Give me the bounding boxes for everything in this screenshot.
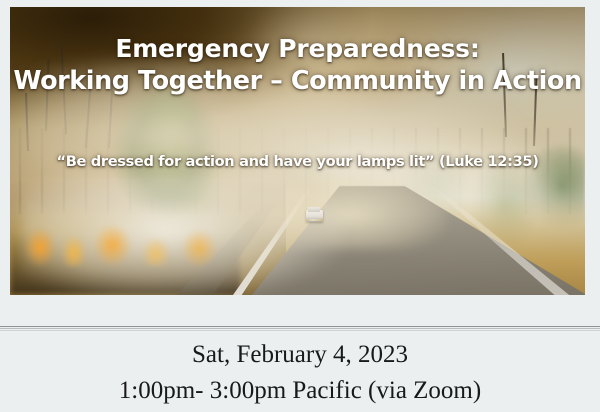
divider-rule-top bbox=[0, 326, 600, 327]
event-time: 1:00pm- 3:00pm Pacific (via Zoom) bbox=[0, 373, 600, 409]
flyer-page: Emergency Preparedness: Working Together… bbox=[0, 0, 600, 412]
scripture-quote: “Be dressed for action and have your lam… bbox=[10, 153, 585, 171]
divider-rule-bottom bbox=[0, 330, 600, 331]
headline-line-1: Emergency Preparedness: bbox=[10, 33, 585, 65]
divider-rule-middle bbox=[0, 328, 600, 329]
banner-headline: Emergency Preparedness: Working Together… bbox=[10, 33, 585, 97]
hero-banner: Emergency Preparedness: Working Together… bbox=[10, 7, 585, 295]
event-details: Sat, February 4, 2023 1:00pm- 3:00pm Pac… bbox=[0, 337, 600, 409]
section-divider bbox=[0, 326, 600, 331]
event-date: Sat, February 4, 2023 bbox=[0, 337, 600, 373]
headline-line-2: Working Together – Community in Action bbox=[10, 65, 585, 97]
